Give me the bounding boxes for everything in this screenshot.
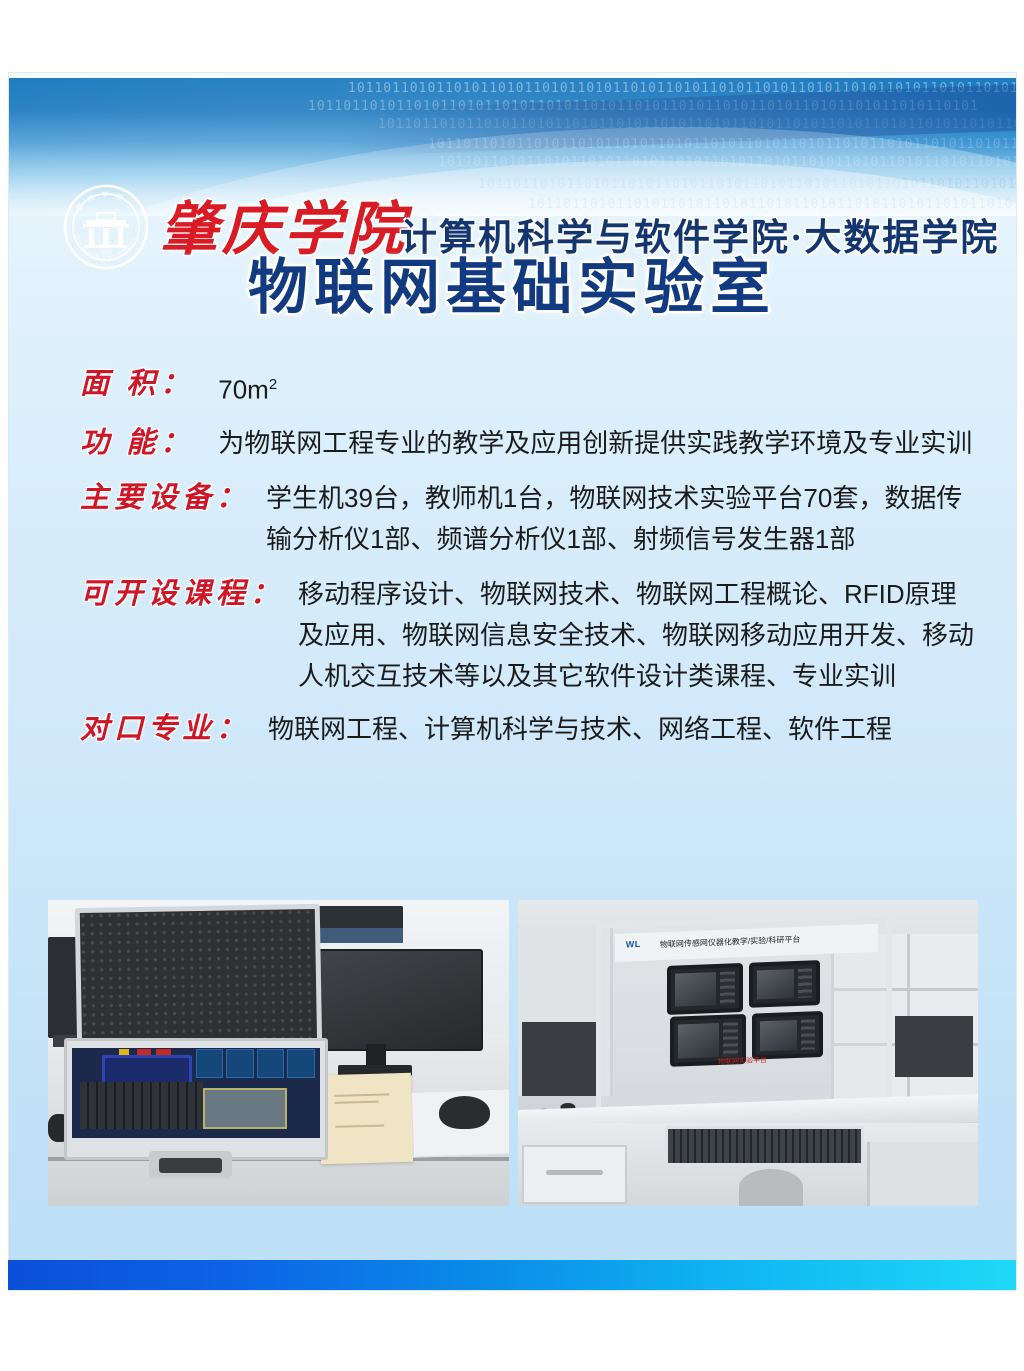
touchscreen-terminal xyxy=(752,1011,823,1060)
info-value-majors: 物联网工程、计算机科学与技术、网络工程、软件工程 xyxy=(250,709,1016,750)
cabinet-drawer xyxy=(522,1145,627,1204)
sensor-module-group xyxy=(196,1049,315,1078)
touchscreen-terminal xyxy=(666,964,743,1015)
info-label-area: 面 积： xyxy=(8,364,194,405)
info-label-function: 功 能： xyxy=(8,423,194,464)
stool-seat xyxy=(739,1169,803,1206)
info-row-function: 功 能： 为物联网工程专业的教学及应用创新提供实践教学环境及专业实训 xyxy=(8,423,1016,464)
main-circuit-board xyxy=(72,1048,320,1139)
platform-sign-text: 物联网传感网仪器化教学/实验/科研平台 xyxy=(660,935,800,951)
keypad-matrix xyxy=(80,1082,204,1129)
info-value-courses: 移动程序设计、物联网技术、物联网工程概论、RFID原理及应用、物联网信息安全技术… xyxy=(284,574,1016,697)
lcd-monitor-icon xyxy=(304,949,483,1051)
area-number: 70m xyxy=(218,375,269,405)
touchscreen-terminal xyxy=(749,961,820,1008)
left-dark-equipment xyxy=(522,1022,600,1095)
info-label-courses: 可开设课程： xyxy=(8,574,284,615)
aluminium-case-lid-foam xyxy=(74,904,321,1059)
right-dark-monitor xyxy=(895,1016,973,1077)
manual-booklet xyxy=(319,1073,413,1164)
info-row-area: 面 积： 70m2 xyxy=(8,364,1016,411)
info-value-function: 为物联网工程专业的教学及应用创新提供实践教学环境及专业实训 xyxy=(194,423,1016,464)
info-value-equipment: 学生机39台，教师机1台，物联网技术实验平台70套，数据传输分析仪1部、频谱分析… xyxy=(250,478,1016,560)
info-row-equipment: 主要设备： 学生机39台，教师机1台，物联网技术实验平台70套，数据传输分析仪1… xyxy=(8,478,1016,560)
keyboard-tray xyxy=(665,1126,864,1166)
page-title: 物联网基础实验室 xyxy=(8,239,1016,326)
rack-red-label: 物联网实验平台 xyxy=(718,1056,767,1068)
iot-sensor-platform-cabinet-photo: W L 物联网传感网仪器化教学/实验/科研平台 物联网实验平台 xyxy=(518,900,979,1206)
wl-brand-logo: W L xyxy=(626,940,640,951)
right-cabinet-partition xyxy=(867,1142,978,1206)
area-unit-exponent: 2 xyxy=(269,376,277,393)
info-row-courses: 可开设课程： 移动程序设计、物联网技术、物联网工程概论、RFID原理及应用、物联… xyxy=(8,574,1016,697)
info-label-equipment: 主要设备： xyxy=(8,478,250,519)
acrylic-cover-plate xyxy=(203,1088,286,1128)
platform-sign-board: W L 物联网传感网仪器化教学/实验/科研平台 xyxy=(615,924,878,962)
iot-experiment-case-photo xyxy=(48,900,509,1206)
mouse-icon xyxy=(439,1096,490,1130)
info-value-area: 70m2 xyxy=(194,364,1016,411)
photo-gallery: W L 物联网传感网仪器化教学/实验/科研平台 物联网实验平台 xyxy=(48,900,978,1206)
info-section: 面 积： 70m2 功 能： 为物联网工程专业的教学及应用创新提供实践教学环境及… xyxy=(8,364,1016,762)
poster-canvas: 1011011010110101101011010110101101011010… xyxy=(8,72,1016,1290)
case-handle xyxy=(149,1151,232,1179)
footer-gradient-bar xyxy=(8,1260,1016,1290)
aluminium-case-body xyxy=(64,1038,328,1160)
info-row-majors: 对口专业： 物联网工程、计算机科学与技术、网络工程、软件工程 xyxy=(8,709,1016,750)
info-label-majors: 对口专业： xyxy=(8,709,250,750)
